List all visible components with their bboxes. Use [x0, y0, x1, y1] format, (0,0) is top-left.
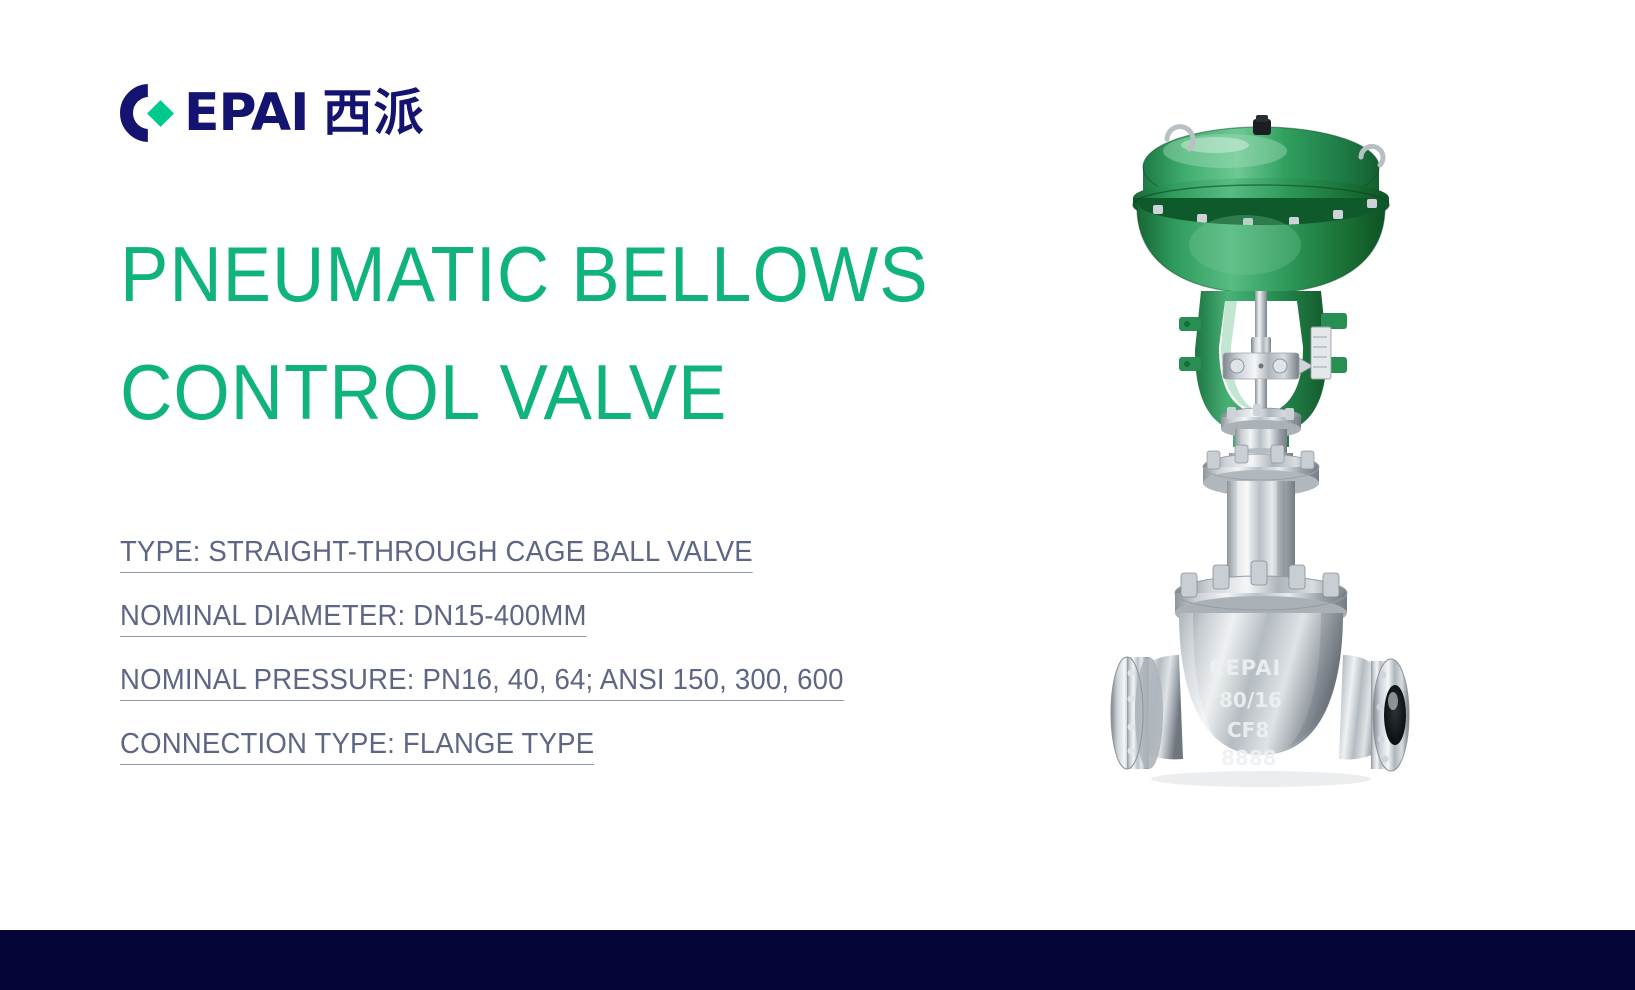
logo-chinese-name: 西派: [322, 88, 424, 138]
spec-item-nominal-pressure: NOMINAL PRESSURE: PN16, 40, 64; ANSI 150…: [120, 648, 1023, 712]
spec-item-nominal-diameter-text: NOMINAL DIAMETER: DN15-400MM: [120, 600, 587, 637]
right-end-flange: [1371, 659, 1409, 771]
logo-wordmark: EPAI: [184, 87, 308, 139]
logo-c-diamond-icon: [120, 84, 186, 142]
spec-item-connection-type: CONNECTION TYPE: FLANGE TYPE: [120, 712, 1023, 776]
product-slide: EPAI 西派 PNEUMATIC BELLOWS CONTROL VALVE …: [0, 0, 1635, 990]
spec-item-connection-type-text: CONNECTION TYPE: FLANGE TYPE: [120, 728, 594, 765]
specification-list: TYPE: STRAIGHT-THROUGH CAGE BALL VALVE N…: [120, 520, 1070, 776]
actuator-stem: [1255, 291, 1267, 339]
svg-text:CF8: CF8: [1227, 718, 1269, 742]
product-image-control-valve: C E 派 E: [1075, 95, 1435, 795]
spec-item-type-text: TYPE: STRAIGHT-THROUGH CAGE BALL VALVE: [120, 536, 753, 573]
svg-text:8888: 8888: [1221, 746, 1277, 770]
spec-item-nominal-diameter: NOMINAL DIAMETER: DN15-400MM: [120, 584, 1023, 648]
cepai-logo: EPAI 西派: [120, 82, 424, 144]
svg-text:80/16: 80/16: [1219, 688, 1282, 712]
travel-scale-plate: [1311, 327, 1331, 379]
title-line-2: CONTROL VALVE: [120, 333, 1004, 451]
footer-bar: [0, 930, 1635, 990]
svg-text:CEPAI: CEPAI: [1209, 656, 1281, 680]
title-line-1: PNEUMATIC BELLOWS: [120, 215, 1004, 333]
spec-item-type: TYPE: STRAIGHT-THROUGH CAGE BALL VALVE: [120, 520, 1023, 584]
diamond-icon: [147, 100, 174, 127]
page-title: PNEUMATIC BELLOWS CONTROL VALVE: [120, 215, 1070, 451]
spec-item-nominal-pressure-text: NOMINAL PRESSURE: PN16, 40, 64; ANSI 150…: [120, 664, 844, 701]
left-end-flange: [1111, 657, 1163, 769]
